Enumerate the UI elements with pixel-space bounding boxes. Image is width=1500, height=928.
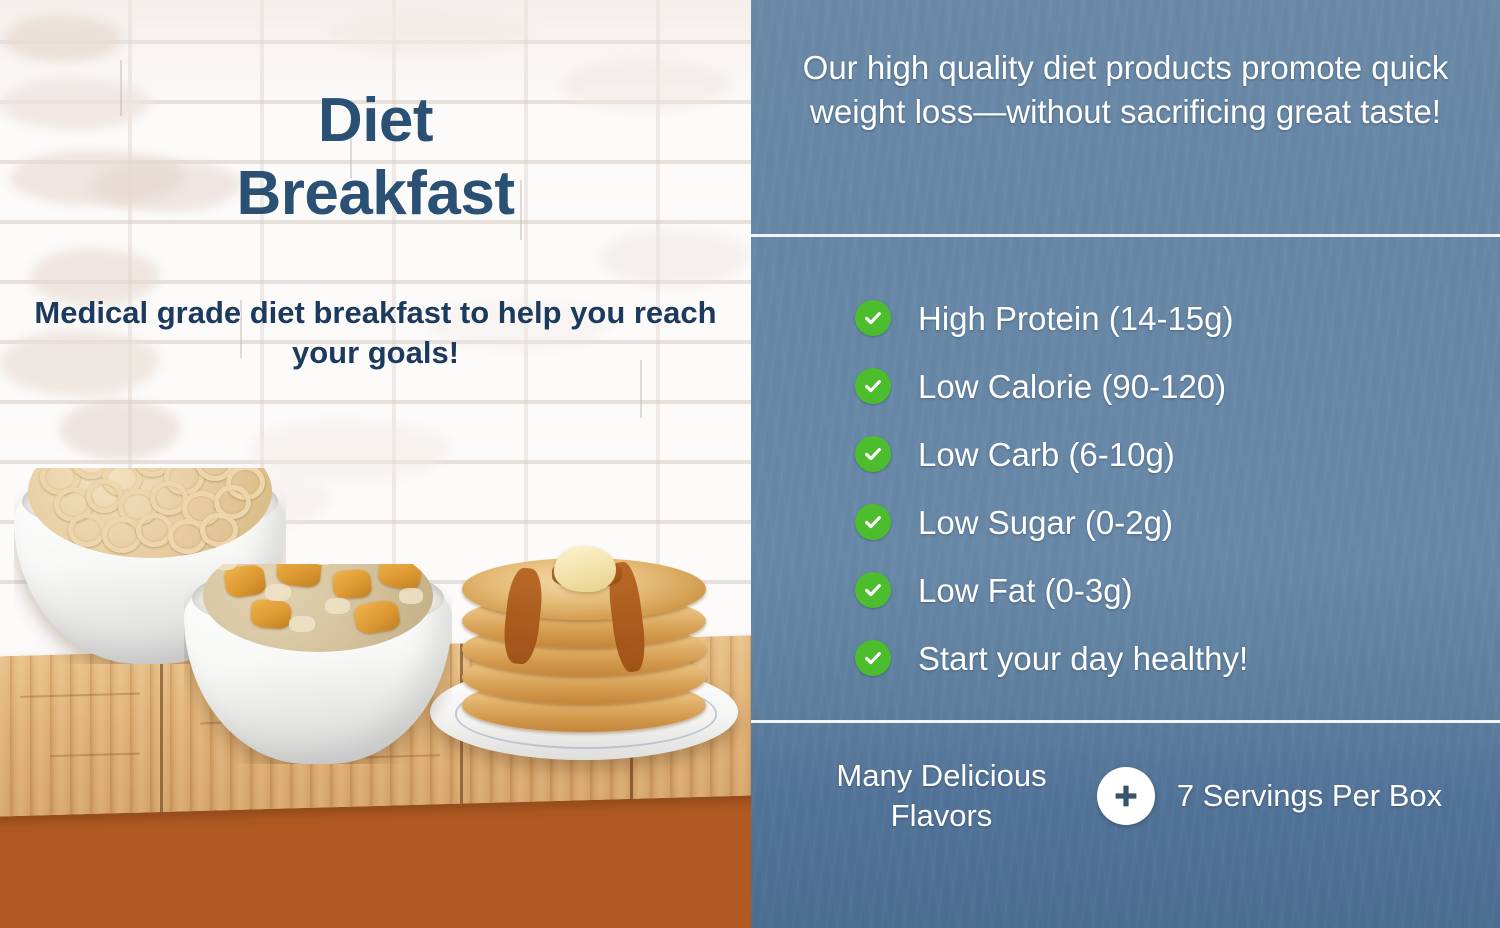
benefit-label: Low Sugar (0-2g) <box>918 506 1173 539</box>
benefit-item-start-your-day-healthy: Start your day healthy! <box>855 624 1248 692</box>
product-title-line-1: Diet <box>318 86 433 155</box>
benefit-item-low-calorie: Low Calorie (90-120) <box>855 352 1248 420</box>
servings-text: 7 Servings Per Box <box>1165 776 1455 816</box>
check-circle-icon <box>855 436 891 472</box>
oatmeal-bowl <box>184 564 452 764</box>
apple-chunk <box>353 599 401 636</box>
flavors-text: Many Delicious Flavors <box>797 756 1087 837</box>
pancake-stack <box>462 552 706 732</box>
check-circle-icon <box>855 504 891 540</box>
product-title: DietBreakfast <box>0 84 751 230</box>
board-grain-line <box>20 693 140 698</box>
benefit-label: Low Calorie (90-120) <box>918 370 1226 403</box>
oat-crumble <box>265 584 291 601</box>
oat-crumble <box>399 588 423 604</box>
benefit-label: Low Fat (0-3g) <box>918 574 1133 607</box>
benefit-item-low-sugar: Low Sugar (0-2g) <box>855 488 1248 556</box>
oat-crumble <box>289 616 315 632</box>
product-infographic: DietBreakfast Medical grade diet breakfa… <box>0 0 1500 928</box>
benefit-label: Start your day healthy! <box>918 642 1248 675</box>
brick-texture-patch <box>60 400 180 460</box>
benefit-label: High Protein (14-15g) <box>918 302 1234 335</box>
product-subtitle: Medical grade diet breakfast to help you… <box>0 293 751 374</box>
apple-chunk <box>332 569 372 600</box>
divider-bottom <box>751 720 1500 723</box>
benefit-item-low-fat: Low Fat (0-3g) <box>855 556 1248 624</box>
benefit-item-low-carb: Low Carb (6-10g) <box>855 420 1248 488</box>
brick-texture-patch <box>600 230 750 286</box>
check-circle-icon <box>855 640 891 676</box>
benefit-label: Low Carb (6-10g) <box>918 438 1175 471</box>
check-circle-icon <box>855 572 891 608</box>
benefits-list: High Protein (14-15g) Low Calorie (90-12… <box>855 284 1248 692</box>
cereal-ring <box>200 513 238 547</box>
divider-top <box>751 234 1500 237</box>
promo-tagline: Our high quality diet products promote q… <box>791 46 1460 133</box>
check-circle-icon <box>855 300 891 336</box>
cereal-ring <box>136 513 173 547</box>
benefit-item-high-protein: High Protein (14-15g) <box>855 284 1248 352</box>
cereal-ring <box>68 513 106 547</box>
cereal-ring <box>102 517 142 553</box>
brick-texture-patch <box>330 10 530 54</box>
butter-pat <box>554 546 616 592</box>
footer-highlights: Many Delicious Flavors 7 Servings Per Bo… <box>751 756 1500 837</box>
check-circle-icon <box>855 368 891 404</box>
board-grain-line <box>50 753 140 758</box>
apple-chunk <box>250 599 292 630</box>
board-plank-seam <box>160 652 163 812</box>
marketing-panel: Our high quality diet products promote q… <box>751 0 1500 928</box>
product-title-text: DietBreakfast <box>0 84 751 230</box>
plus-circle-icon <box>1097 767 1155 825</box>
oat-crumble <box>325 598 350 614</box>
product-title-line-2: Breakfast <box>236 159 514 228</box>
brick-texture-patch <box>4 16 122 62</box>
product-photo-panel: DietBreakfast Medical grade diet breakfa… <box>0 0 751 928</box>
